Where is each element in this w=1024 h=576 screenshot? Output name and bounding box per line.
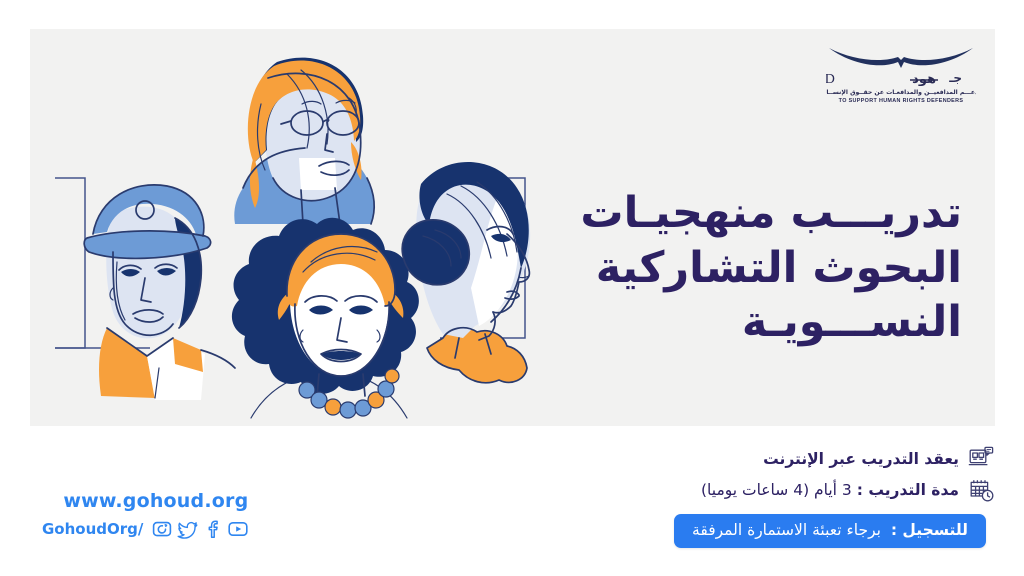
info-row-duration: مدة التدريب : 3 أيام (4 ساعات يوميا) bbox=[624, 477, 994, 503]
logo-tagline-arabic: لدعـــم المدافعيــن والمدافعـات عن حقــو… bbox=[826, 87, 976, 96]
wings-swoosh-icon bbox=[826, 45, 976, 71]
page-title-line-2: البحوث التشاركية bbox=[562, 241, 962, 296]
woman-profile-bun-figure bbox=[402, 162, 530, 383]
woman-police-cap-figure bbox=[84, 185, 235, 400]
logo-tagline-english: TO SUPPORT HUMAN RIGHTS DEFENDERS bbox=[826, 98, 976, 104]
registration-cta-button[interactable]: للتسجيل : برجاء تعبئة الاستمارة المرفقة bbox=[674, 514, 986, 548]
info-duration-plain: 3 أيام (4 ساعات يوميا) bbox=[701, 481, 852, 499]
info-text-online: يعقد التدريب عبر الإنترنت bbox=[624, 450, 959, 468]
poster-canvas: GOHOUD هود جـ لدعـــم المدافعيــن والمدا… bbox=[0, 0, 1024, 576]
twitter-icon[interactable] bbox=[177, 519, 198, 539]
info-online-bold: يعقد التدريب عبر الإنترنت bbox=[763, 450, 959, 468]
info-row-online: يعقد التدريب عبر الإنترنت bbox=[624, 446, 994, 472]
cta-bold-label: للتسجيل : bbox=[891, 521, 968, 539]
page-title: تدريـــب منهجيـات البحوث التشاركية النسـ… bbox=[562, 186, 962, 350]
social-links-row: /GohoudOrg bbox=[42, 519, 248, 539]
online-webinar-icon bbox=[968, 446, 994, 472]
page-title-line-3: النســـويـة bbox=[562, 295, 962, 350]
social-handle[interactable]: /GohoudOrg bbox=[42, 520, 143, 538]
svg-text:GOHOUD: GOHOUD bbox=[826, 72, 836, 86]
youtube-icon[interactable] bbox=[228, 519, 248, 539]
woman-glasses-figure bbox=[234, 58, 374, 224]
four-women-portraits-illustration: .ln{fill:none;stroke:#2a3b6e;stroke-widt… bbox=[55, 38, 555, 428]
info-duration-bold: مدة التدريب : bbox=[857, 481, 959, 499]
logo-tagline-arabic-text: لدعـــم المدافعيــن والمدافعـات عن حقــو… bbox=[826, 89, 976, 96]
cta-plain-label: برجاء تعبئة الاستمارة المرفقة bbox=[692, 521, 881, 539]
svg-text:هود: هود bbox=[912, 72, 936, 86]
training-info-block: يعقد التدريب عبر الإنترنت مدة التدريب : … bbox=[624, 446, 994, 548]
logo-wordmark: GOHOUD هود جـ bbox=[826, 69, 976, 86]
woman-headwrap-figure bbox=[232, 218, 419, 418]
website-link[interactable]: www.gohoud.org bbox=[42, 492, 248, 511]
calendar-clock-icon bbox=[968, 477, 994, 503]
info-text-duration: مدة التدريب : 3 أيام (4 ساعات يوميا) bbox=[624, 481, 959, 499]
gohoud-logo: GOHOUD هود جـ لدعـــم المدافعيــن والمدا… bbox=[826, 45, 976, 104]
page-title-line-1: تدريـــب منهجيـات bbox=[562, 186, 962, 241]
footer-contact-block: www.gohoud.org /GohoudOrg bbox=[42, 492, 248, 539]
instagram-icon[interactable] bbox=[152, 519, 172, 539]
svg-text:جـ: جـ bbox=[948, 71, 962, 85]
facebook-icon[interactable] bbox=[203, 519, 223, 539]
